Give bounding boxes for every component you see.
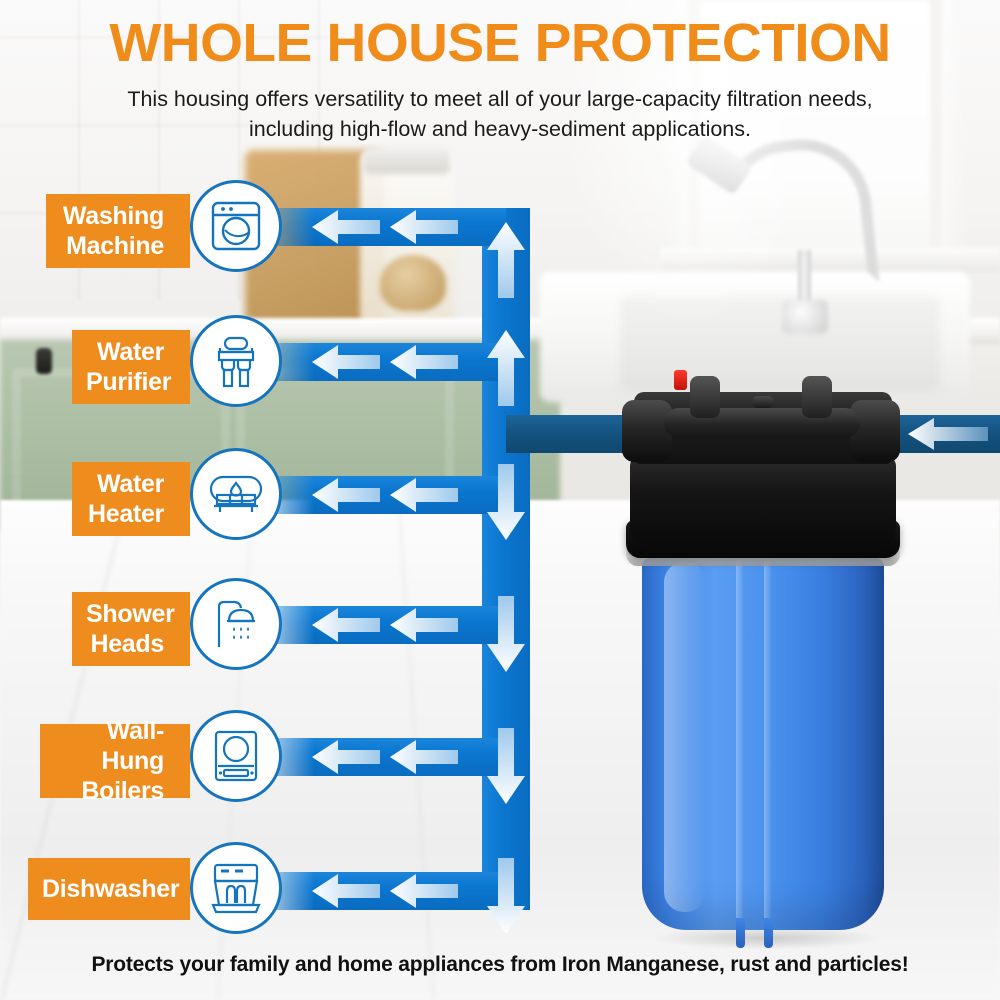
arrow-left-icon — [908, 418, 988, 450]
arrow-left-icon — [312, 478, 380, 512]
label-line-2: Purifier — [86, 367, 164, 397]
arrow-down-icon — [487, 728, 525, 804]
branch-pipe-dishwasher — [256, 872, 506, 910]
arrow-left-icon — [312, 740, 380, 774]
arrow-left-icon — [312, 210, 380, 244]
arrow-left-icon — [312, 608, 380, 642]
arrow-left-icon — [390, 740, 458, 774]
washing-machine-icon — [190, 180, 282, 272]
water-heater-icon — [190, 448, 282, 540]
branch-pipe-water-purifier — [256, 343, 506, 381]
infographic-canvas: WHOLE HOUSE PROTECTION This housing offe… — [0, 0, 1000, 1000]
label-line-1: Water — [86, 337, 164, 367]
branch-pipe-washing-machine — [256, 208, 506, 246]
shower-head-icon — [190, 578, 282, 670]
arrow-left-icon — [312, 345, 380, 379]
arrow-left-icon — [312, 874, 380, 908]
appliance-label-washing-machine: Washing Machine — [46, 194, 190, 268]
label-line-1: Wall-Hung — [54, 716, 164, 776]
arrow-down-icon — [487, 596, 525, 672]
arrow-left-icon — [390, 874, 458, 908]
label-line-2: Heater — [86, 499, 164, 529]
label-line-1: Water — [86, 469, 164, 499]
pressure-release-button[interactable] — [674, 370, 687, 390]
arrow-down-icon — [487, 464, 525, 540]
label-line-2: Heads — [86, 629, 164, 659]
inlet-port — [622, 400, 672, 462]
branch-pipe-wall-hung-boilers — [256, 738, 506, 776]
branch-pipe-water-heater — [256, 476, 506, 514]
arrow-left-icon — [390, 210, 458, 244]
arrow-up-icon — [487, 330, 525, 406]
arrow-up-icon — [487, 222, 525, 298]
appliance-label-water-purifier: Water Purifier — [72, 330, 190, 404]
wall-hung-boiler-icon — [190, 710, 282, 802]
appliance-label-wall-hung-boilers: Wall-Hung Boilers — [40, 724, 190, 798]
appliance-label-shower-heads: Shower Heads — [72, 592, 190, 666]
label-line-1: Dishwasher — [42, 874, 164, 904]
arrow-left-icon — [390, 345, 458, 379]
water-purifier-icon — [190, 315, 282, 407]
filter-housing — [612, 370, 912, 950]
arrow-down-icon — [487, 858, 525, 934]
appliance-label-water-heater: Water Heater — [72, 462, 190, 536]
appliance-label-dishwasher: Dishwasher — [28, 858, 190, 920]
arrow-left-icon — [390, 478, 458, 512]
label-line-2: Machine — [60, 231, 164, 261]
dishwasher-icon — [190, 842, 282, 934]
arrow-left-icon — [390, 608, 458, 642]
footer-caption: Protects your family and home appliances… — [0, 953, 1000, 977]
label-line-1: Washing — [60, 201, 164, 231]
label-line-2: Boilers — [54, 776, 164, 806]
housing-cap — [630, 456, 896, 546]
label-line-1: Shower — [86, 599, 164, 629]
branch-pipe-shower-heads — [256, 606, 506, 644]
